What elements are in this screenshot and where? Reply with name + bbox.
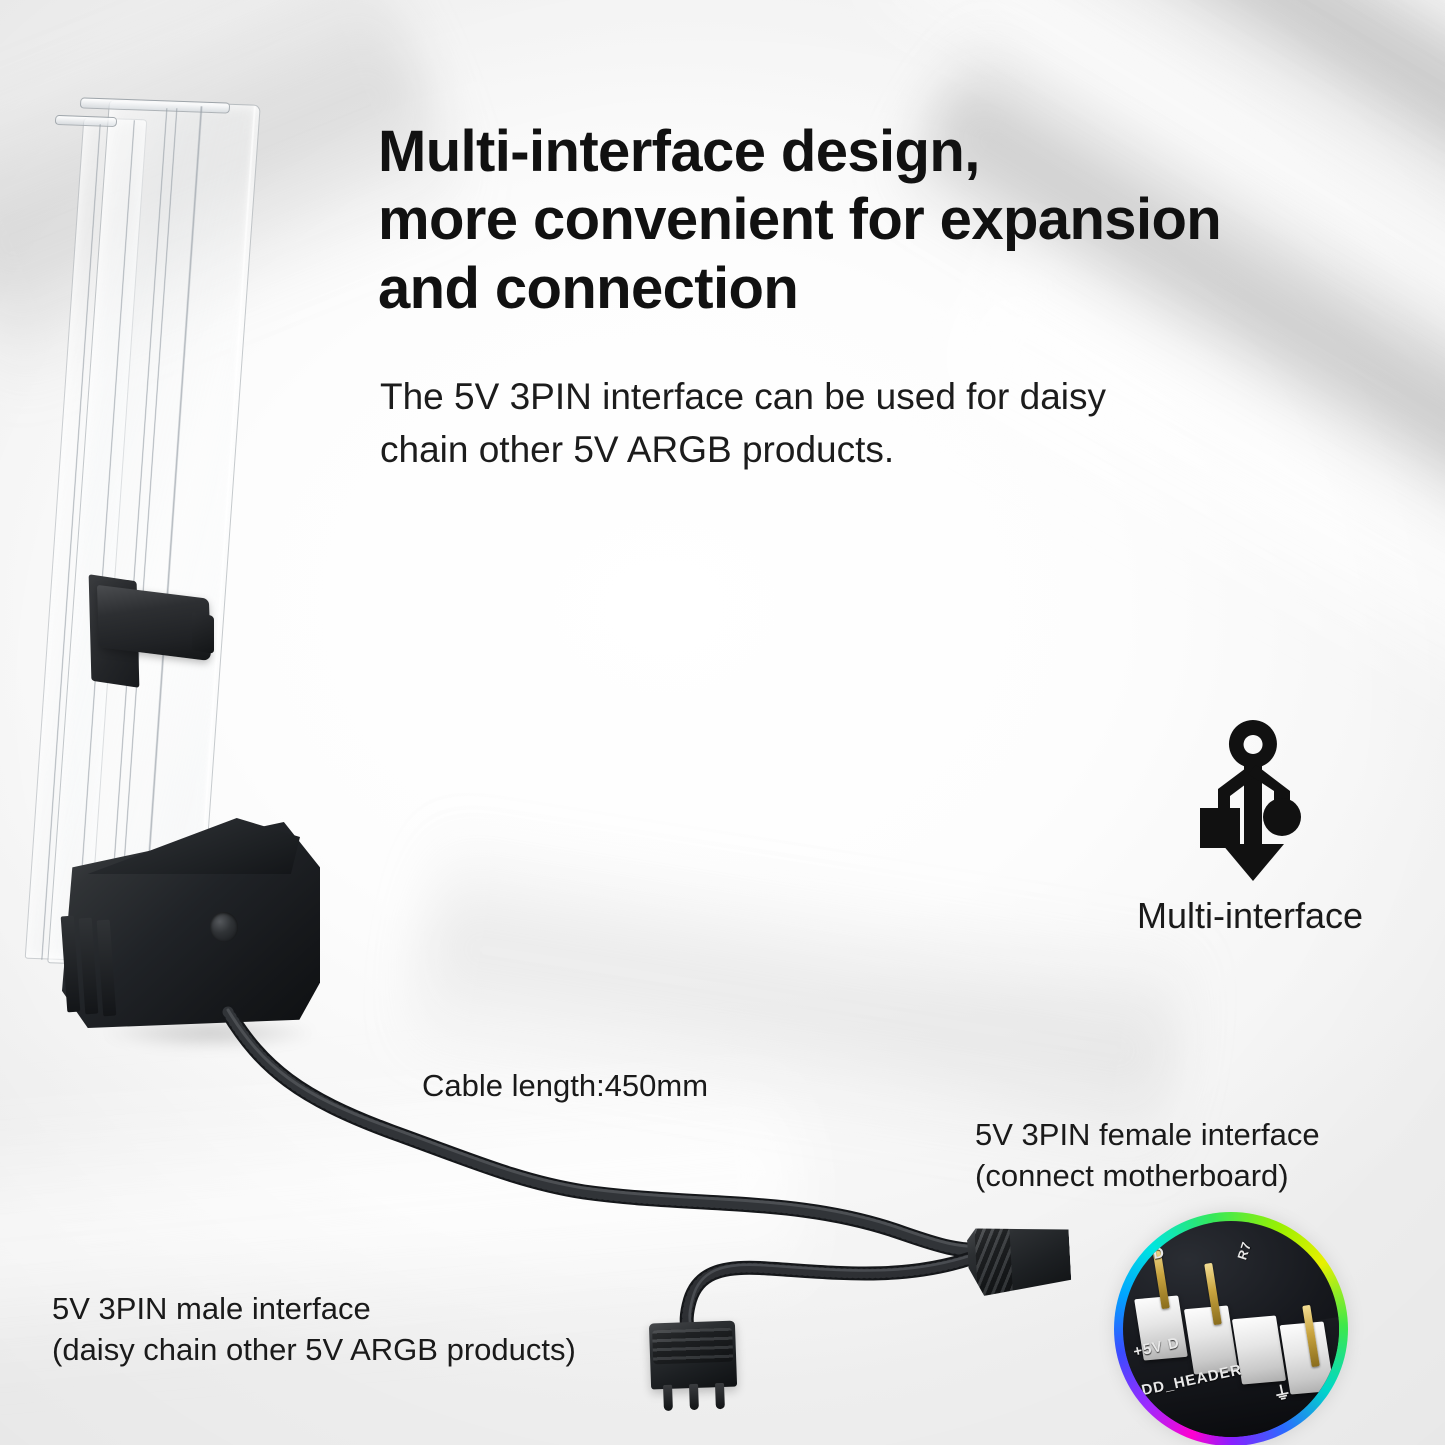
female-interface-label: 5V 3PIN female interface (connect mother…	[975, 1114, 1320, 1196]
silkscreen-d-label: D	[1151, 1244, 1166, 1263]
product-marketing-image: D R7 +5V D ADD_HEADER ⏚	[0, 0, 1445, 1445]
connector-pin	[715, 1383, 725, 1409]
page-title: Multi-interface design, more convenient …	[378, 118, 1423, 323]
connector-pin	[689, 1384, 699, 1410]
multi-interface-usb-icon	[1178, 718, 1328, 883]
acrylic-rear-top-bevel	[55, 115, 118, 127]
multi-interface-label: Multi-interface	[1090, 895, 1410, 937]
male-3pin-connector	[649, 1321, 737, 1390]
page-subtitle: The 5V 3PIN interface can be used for da…	[380, 370, 1180, 477]
motherboard-header-photo: D R7 +5V D ADD_HEADER ⏚	[1114, 1212, 1348, 1445]
motherboard-pcb: D R7 +5V D ADD_HEADER ⏚	[1123, 1221, 1339, 1437]
support-arm-tip	[192, 612, 214, 654]
silkscreen-r-label: R7	[1234, 1239, 1254, 1261]
connector-pin	[663, 1385, 673, 1411]
product-light-bar	[40, 80, 370, 1080]
connector-ribs	[653, 1327, 733, 1364]
male-interface-label: 5V 3PIN male interface (daisy chain othe…	[52, 1288, 576, 1370]
cable-length-label: Cable length:450mm	[422, 1068, 708, 1104]
connector-ribs	[975, 1227, 1013, 1295]
